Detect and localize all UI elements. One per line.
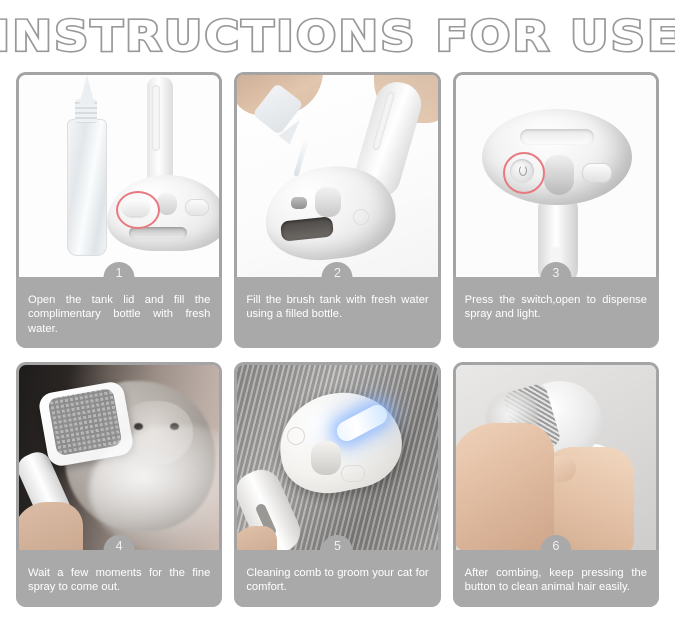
illustration-cleaning-brush	[456, 365, 656, 550]
illustration-bottle-and-device	[19, 75, 219, 277]
step-image-5	[234, 362, 440, 550]
steps-row-top: 1 Open the tank lid and fill the complim…	[16, 72, 659, 348]
instructions-page: INSTRUCTIONS FOR USE	[0, 0, 675, 639]
device-side-button	[341, 465, 365, 482]
highlight-ring-icon	[116, 191, 160, 229]
steps-grid: 1 Open the tank lid and fill the complim…	[0, 72, 675, 607]
step-caption-3: 3 Press the switch,open to dispense spra…	[453, 277, 659, 334]
step-badge-5: 5	[322, 535, 353, 566]
device-knob	[315, 187, 341, 217]
step-badge-4: 4	[104, 535, 135, 566]
step-badge-2: 2	[322, 262, 353, 293]
device-handle-slot	[152, 85, 160, 151]
step-card-3: 3 Press the switch,open to dispense spra…	[453, 72, 659, 348]
step-caption-text-4: Wait a few moments for the fine spray to…	[28, 566, 210, 595]
illustration-grooming-fur	[237, 365, 437, 550]
page-header: INSTRUCTIONS FOR USE	[0, 0, 675, 72]
step-badge-1: 1	[104, 262, 135, 293]
step-badge-6: 6	[540, 535, 571, 566]
step-caption-2: 2 Fill the brush tank with fresh water u…	[234, 277, 440, 334]
step-image-4	[16, 362, 222, 550]
device-vent	[520, 129, 594, 145]
tank-port	[291, 197, 307, 209]
step-caption-text-5: Cleaning comb to groom your cat for comf…	[246, 566, 428, 595]
step-image-1	[16, 72, 222, 277]
step-caption-5: 5 Cleaning comb to groom your cat for co…	[234, 550, 440, 607]
step-caption-text-6: After combing, keep pressing the button …	[465, 566, 647, 595]
step-caption-text-3: Press the switch,open to dispense spray …	[465, 293, 647, 322]
step-image-2	[234, 72, 440, 277]
hand-pulling-hair	[453, 423, 554, 550]
step-caption-text-1: Open the tank lid and fill the complimen…	[28, 293, 210, 336]
device-knob	[311, 441, 341, 475]
step-image-6	[453, 362, 659, 550]
refill-bottle	[67, 119, 107, 256]
hand-holding-device	[16, 502, 83, 550]
device-knob	[544, 155, 574, 195]
illustration-filling-tank	[237, 75, 437, 277]
step-card-6: 6 After combing, keep pressing the butto…	[453, 362, 659, 607]
step-card-2: 2 Fill the brush tank with fresh water u…	[234, 72, 440, 348]
step-caption-text-2: Fill the brush tank with fresh water usi…	[246, 293, 428, 322]
bottle-nozzle-icon	[79, 75, 95, 105]
steps-row-bottom: 4 Wait a few moments for the fine spray …	[16, 362, 659, 607]
step-caption-4: 4 Wait a few moments for the fine spray …	[16, 550, 222, 607]
illustration-spray-on-cat	[19, 365, 219, 550]
step-image-3	[453, 72, 659, 277]
device-side-button	[185, 199, 209, 216]
step-badge-3: 3	[540, 262, 571, 293]
highlight-ring-icon	[503, 152, 545, 194]
device-handle	[147, 77, 173, 185]
step-caption-1: 1 Open the tank lid and fill the complim…	[16, 277, 222, 348]
device-side-button	[582, 163, 612, 183]
hand-holding-device	[234, 526, 277, 550]
illustration-power-switch	[456, 75, 656, 277]
device-knob	[157, 193, 177, 215]
step-card-1: 1 Open the tank lid and fill the complim…	[16, 72, 222, 348]
step-caption-6: 6 After combing, keep pressing the butto…	[453, 550, 659, 607]
step-card-4: 4 Wait a few moments for the fine spray …	[16, 362, 222, 607]
step-card-5: 5 Cleaning comb to groom your cat for co…	[234, 362, 440, 607]
page-title: INSTRUCTIONS FOR USE	[0, 13, 675, 61]
